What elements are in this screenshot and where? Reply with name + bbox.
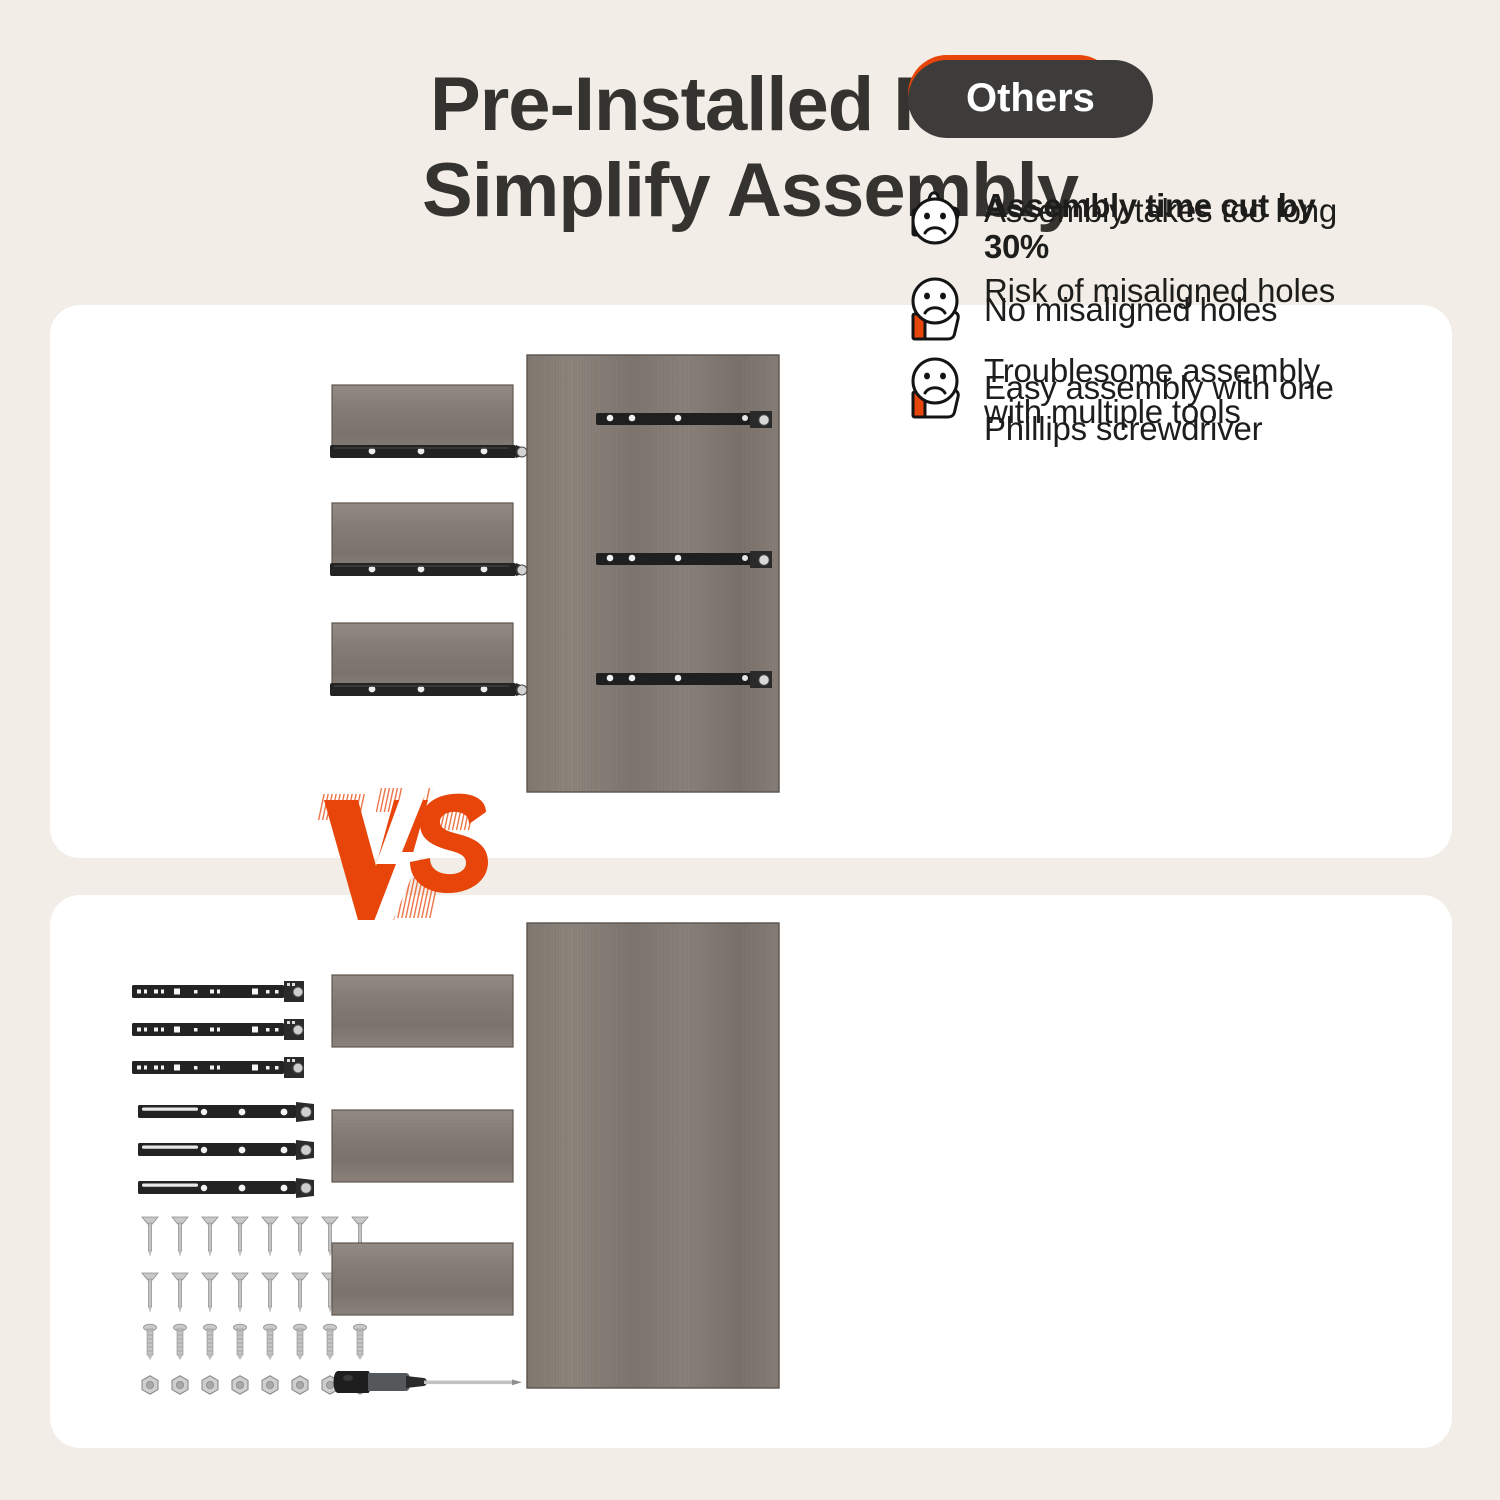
list-item: Risk of misaligned holes xyxy=(908,270,1348,328)
list-item-label: Troublesome assembly with multiple tools xyxy=(984,350,1348,432)
drawer-front-with-rail xyxy=(330,385,527,458)
list-item: Troublesome assembly with multiple tools xyxy=(908,350,1348,432)
bare-drawer-front xyxy=(332,975,513,1047)
loose-rail-plain xyxy=(138,1102,314,1122)
list-item: Assembly takes too long xyxy=(908,190,1348,248)
sad-face-icon xyxy=(908,190,970,248)
bare-cabinet-side-panel xyxy=(527,923,779,1388)
drawer-front-with-rail xyxy=(330,623,527,696)
bullet-list-others: Assembly takes too long Risk of misalign… xyxy=(908,190,1348,432)
phillips-screwdriver-icon xyxy=(334,1371,523,1393)
drawer-front-with-rail xyxy=(330,503,527,576)
cabinet-side-panel-with-rails xyxy=(527,355,779,792)
loose-rail-perforated xyxy=(132,1057,304,1078)
bare-drawer-front xyxy=(332,1110,513,1182)
loose-rail-plain xyxy=(138,1178,314,1198)
loose-rail-plain xyxy=(138,1140,314,1160)
vs-badge: VS xyxy=(310,782,510,942)
loose-rails-group xyxy=(132,981,314,1198)
sad-face-icon xyxy=(908,270,970,328)
loose-rail-perforated xyxy=(132,981,304,1002)
list-item-label: Assembly takes too long xyxy=(984,190,1337,231)
badge-others: Others xyxy=(908,60,1153,138)
loose-rail-perforated xyxy=(132,1019,304,1040)
bare-drawer-front xyxy=(332,1243,513,1315)
illustration-others xyxy=(50,895,910,1448)
preinstalled-rail xyxy=(330,683,527,696)
panel-content-others: Others Assembly takes too long xyxy=(908,60,1348,454)
preinstalled-rail xyxy=(330,445,527,458)
preinstalled-rail xyxy=(330,563,527,576)
list-item-label: Risk of misaligned holes xyxy=(984,270,1335,311)
sad-face-icon xyxy=(908,350,970,408)
illustration-ours xyxy=(50,305,910,858)
fastener-row-short-screw xyxy=(144,1324,367,1360)
